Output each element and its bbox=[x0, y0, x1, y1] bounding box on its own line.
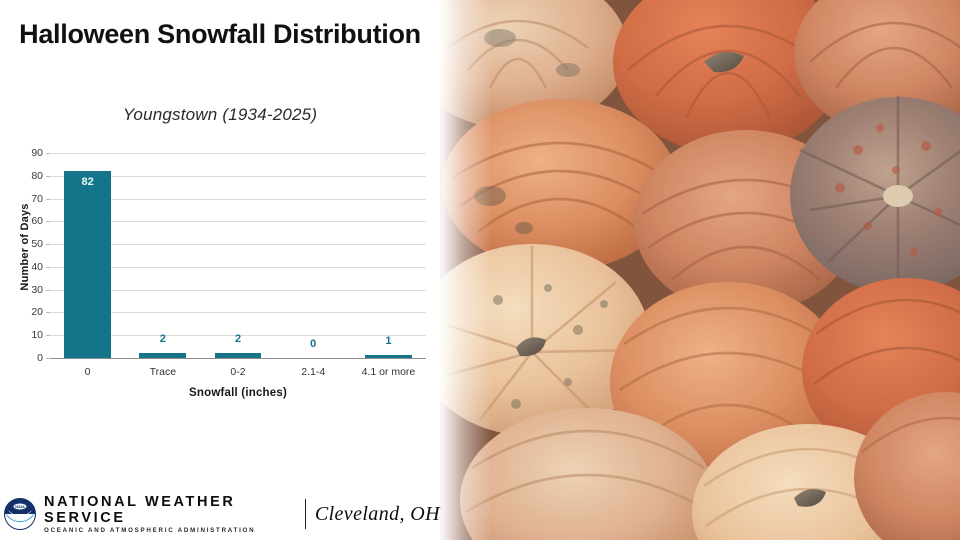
snowfall-bar-chart: Number of Days 01020304050607080908202Tr… bbox=[6, 145, 434, 410]
chart-plot-area: 01020304050607080908202Trace20-202.1-414… bbox=[50, 153, 426, 358]
bar-value-label: 82 bbox=[64, 176, 111, 188]
x-tick-label: 4.1 or more bbox=[351, 366, 426, 378]
pumpkin-photo bbox=[428, 0, 960, 540]
footer-divider bbox=[305, 499, 306, 529]
nws-footer: NOAA NATIONAL WEATHER SERVICE OCEANIC AN… bbox=[4, 494, 440, 534]
agency-name-primary: NATIONAL WEATHER SERVICE bbox=[44, 494, 297, 526]
x-tick-label: 0 bbox=[50, 366, 125, 378]
left-content-panel: Halloween Snowfall Distribution Youngsto… bbox=[0, 0, 440, 540]
agency-name-block: NATIONAL WEATHER SERVICE OCEANIC AND ATM… bbox=[44, 494, 297, 535]
y-tick-label: 50 bbox=[31, 238, 43, 250]
x-tick-label: 0-2 bbox=[200, 366, 275, 378]
x-tick-label: Trace bbox=[125, 366, 200, 378]
y-tick-label: 80 bbox=[31, 170, 43, 182]
y-tick-label: 60 bbox=[31, 215, 43, 227]
bar-value-label: 0 bbox=[276, 338, 351, 350]
x-axis-title: Snowfall (inches) bbox=[50, 387, 426, 399]
bar-slot[interactable]: 20-2 bbox=[200, 153, 275, 358]
pumpkin-photo-illustration bbox=[428, 0, 960, 540]
office-name: Cleveland, OH bbox=[315, 503, 440, 526]
page-subtitle: Youngstown (1934-2025) bbox=[0, 105, 440, 125]
snowfall-infographic: Halloween Snowfall Distribution Youngsto… bbox=[0, 0, 960, 540]
y-tick-label: 0 bbox=[37, 352, 43, 364]
page-title: Halloween Snowfall Distribution bbox=[0, 18, 440, 51]
axis-baseline bbox=[50, 358, 426, 359]
y-tick-label: 90 bbox=[31, 147, 43, 159]
noaa-logo-icon: NOAA bbox=[4, 498, 36, 530]
bar-slot[interactable]: 02.1-4 bbox=[276, 153, 351, 358]
bar-value-label: 2 bbox=[125, 333, 200, 345]
svg-text:NOAA: NOAA bbox=[15, 505, 25, 509]
agency-name-secondary: OCEANIC AND ATMOSPHERIC ADMINISTRATION bbox=[44, 526, 297, 535]
bar-slot[interactable]: 2Trace bbox=[125, 153, 200, 358]
y-tick-label: 40 bbox=[31, 261, 43, 273]
bar-value-label: 2 bbox=[200, 333, 275, 345]
bar-slot[interactable]: 820 bbox=[50, 153, 125, 358]
bar-slot[interactable]: 14.1 or more bbox=[351, 153, 426, 358]
bar[interactable] bbox=[365, 355, 412, 358]
y-tick-label: 20 bbox=[31, 306, 43, 318]
bar-group: 8202Trace20-202.1-414.1 or more bbox=[50, 153, 426, 358]
bar[interactable] bbox=[215, 353, 262, 358]
y-tick-label: 30 bbox=[31, 284, 43, 296]
y-tick-label: 70 bbox=[31, 193, 43, 205]
y-axis-title: Number of Days bbox=[19, 172, 31, 322]
y-tick-label: 10 bbox=[31, 329, 43, 341]
bar[interactable] bbox=[139, 353, 186, 358]
bar[interactable]: 82 bbox=[64, 171, 111, 358]
x-tick-label: 2.1-4 bbox=[276, 366, 351, 378]
bar-value-label: 1 bbox=[351, 335, 426, 347]
y-tick-mark bbox=[46, 358, 50, 359]
